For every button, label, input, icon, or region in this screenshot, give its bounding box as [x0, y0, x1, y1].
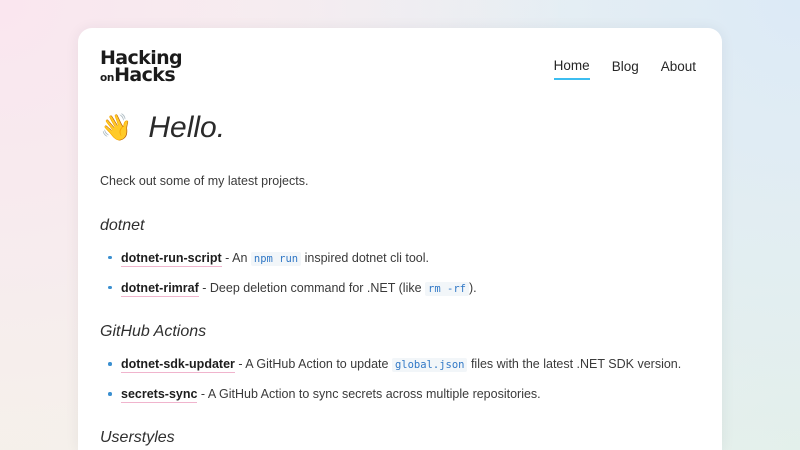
project-list-dotnet: dotnet-run-script - An npm run inspired … [100, 249, 700, 297]
project-link[interactable]: dotnet-rimraf [121, 281, 199, 297]
project-link[interactable]: secrets-sync [121, 387, 197, 403]
logo-word-hacks: Hacks [114, 64, 175, 86]
bullet-icon [108, 256, 112, 260]
section-dotnet: dotnet dotnet-run-script - An npm run in… [100, 217, 700, 297]
page-title: 👋 Hello. [100, 111, 700, 144]
intro-paragraph: Check out some of my latest projects. [100, 172, 700, 191]
inline-code: global.json [392, 358, 468, 372]
logo-line-2: onHacks [100, 67, 182, 84]
content-card: Hacking onHacks Home Blog About 👋 Hello.… [78, 28, 722, 450]
bullet-icon [108, 362, 112, 366]
project-link[interactable]: dotnet-sdk-updater [121, 357, 235, 373]
project-link[interactable]: dotnet-run-script [121, 251, 222, 267]
inline-code: npm run [251, 252, 301, 266]
bullet-icon [108, 286, 112, 290]
section-heading-dotnet: dotnet [100, 217, 700, 235]
site-logo[interactable]: Hacking onHacks [100, 50, 182, 85]
list-item: dotnet-sdk-updater - A GitHub Action to … [100, 355, 700, 373]
project-text-after-code: ). [469, 281, 477, 295]
project-text-before-code: - A GitHub Action to update [235, 357, 392, 371]
project-text-before-code: - Deep deletion command for .NET (like [199, 281, 425, 295]
inline-code: rm -rf [425, 282, 469, 296]
project-text-before-code: - A GitHub Action to sync secrets across… [197, 387, 540, 401]
page-title-text: Hello. [148, 111, 225, 144]
nav-link-home[interactable]: Home [554, 59, 590, 80]
project-text-after-code: files with the latest .NET SDK version. [467, 357, 681, 371]
waving-hand-emoji: 👋 [100, 114, 132, 140]
nav-link-about[interactable]: About [661, 60, 696, 79]
bullet-icon [108, 392, 112, 396]
site-header: Hacking onHacks Home Blog About [100, 28, 700, 85]
section-github-actions: GitHub Actions dotnet-sdk-updater - A Gi… [100, 323, 700, 403]
list-item: dotnet-run-script - An npm run inspired … [100, 249, 700, 267]
project-list-github-actions: dotnet-sdk-updater - A GitHub Action to … [100, 355, 700, 403]
project-text-after-code: inspired dotnet cli tool. [301, 251, 429, 265]
content-card-inner: Hacking onHacks Home Blog About 👋 Hello.… [78, 28, 722, 447]
section-heading-github-actions: GitHub Actions [100, 323, 700, 341]
list-item: secrets-sync - A GitHub Action to sync s… [100, 385, 700, 403]
main-navigation: Home Blog About [554, 59, 696, 80]
nav-link-blog[interactable]: Blog [612, 60, 639, 79]
logo-word-on: on [100, 72, 114, 84]
section-heading-userstyles: Userstyles [100, 429, 700, 447]
project-text-before-code: - An [222, 251, 251, 265]
section-userstyles: Userstyles [100, 429, 700, 447]
list-item: dotnet-rimraf - Deep deletion command fo… [100, 279, 700, 297]
